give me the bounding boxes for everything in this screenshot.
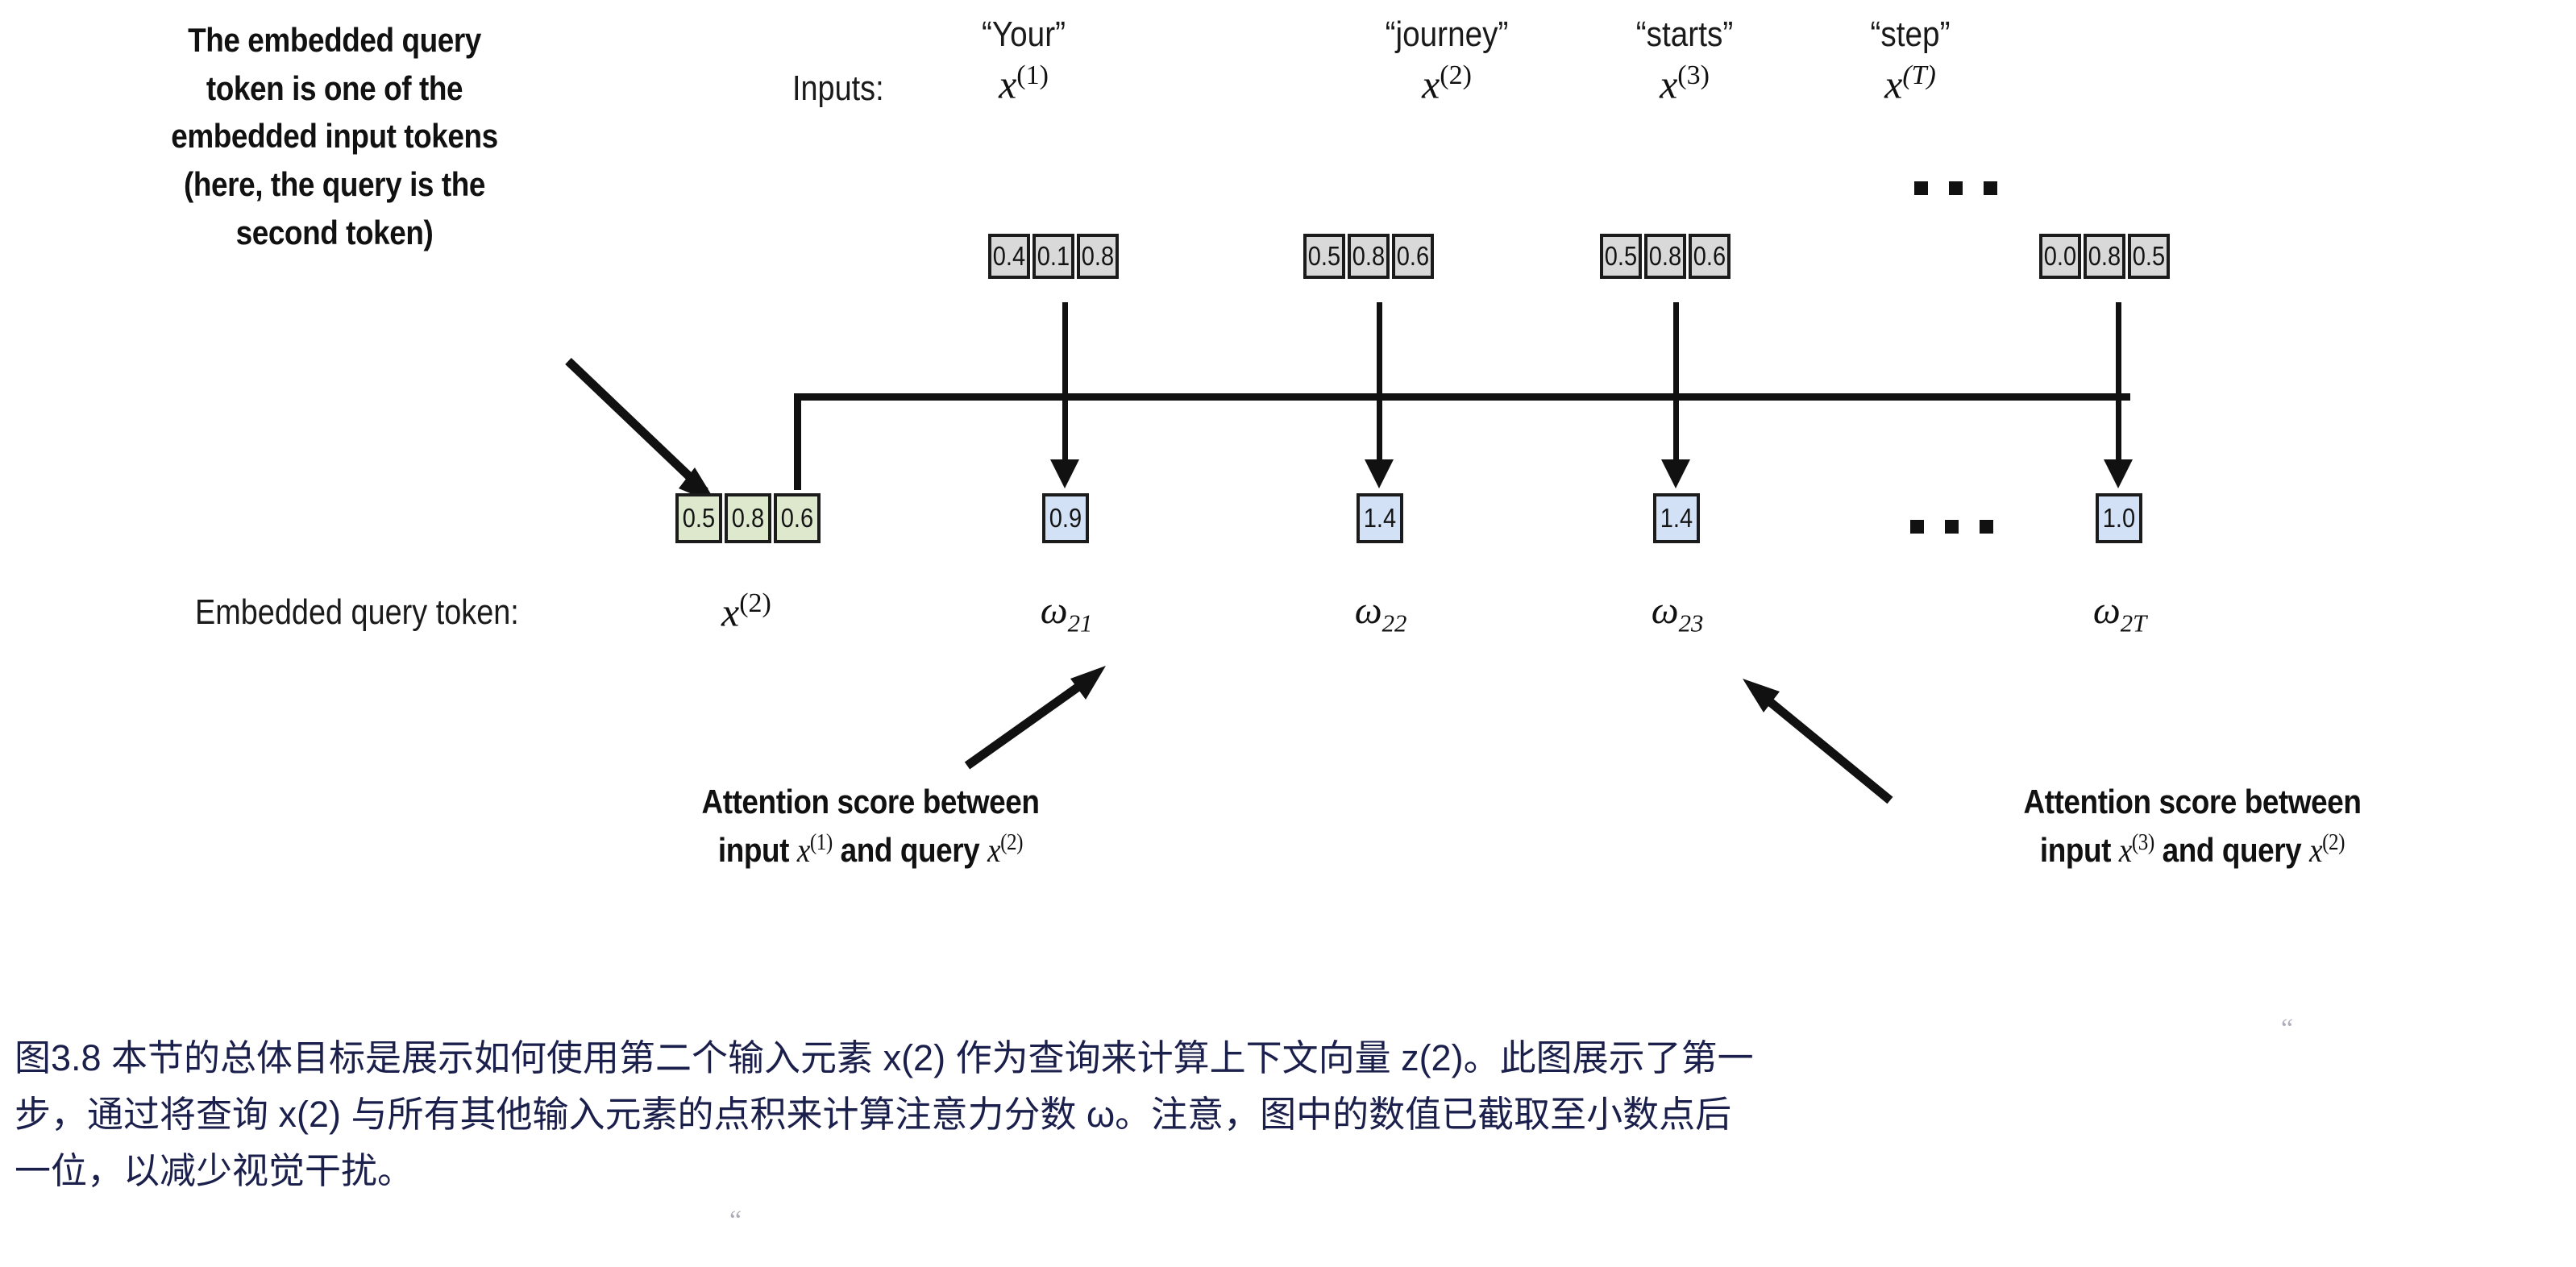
annotation-attention-score-x1: Attention score between input x(1) and q… bbox=[622, 778, 1119, 875]
flow-arrow-shaft-3 bbox=[1673, 302, 1679, 467]
flow-arrow-head-1 bbox=[1050, 459, 1079, 488]
figure-caption: 图3.8 本节的总体目标是展示如何使用第二个输入元素 x(2) 作为查询来计算上… bbox=[15, 1030, 2561, 1199]
score-label-2: ω22 bbox=[1316, 588, 1445, 638]
inputs-label: Inputs: bbox=[792, 69, 884, 109]
input-cell: 0.5 bbox=[1303, 234, 1345, 279]
omega-base-2: ω bbox=[1355, 589, 1382, 632]
omega-base-3: ω bbox=[1652, 589, 1679, 632]
annotation-line: embedded input tokens bbox=[107, 112, 561, 160]
flow-arrow-shaft-4 bbox=[2116, 302, 2121, 467]
input-symbol-base-4: x bbox=[1884, 62, 1902, 107]
input-vector-3: 0.5 0.8 0.6 bbox=[1600, 234, 1733, 279]
annotation-line: (here, the query is the bbox=[107, 160, 561, 209]
caption-line-1: 图3.8 本节的总体目标是展示如何使用第二个输入元素 x(2) 作为查询来计算上… bbox=[15, 1030, 2561, 1086]
annotation-text: and query bbox=[2154, 831, 2309, 869]
x-symbol: x(3) bbox=[2119, 833, 2154, 870]
score-cell: 1.4 bbox=[1653, 493, 1700, 543]
input-symbol-sup-2: (2) bbox=[1440, 60, 1472, 90]
x-symbol: x(2) bbox=[2309, 833, 2345, 870]
flow-arrow-shaft-1 bbox=[1062, 302, 1068, 467]
score-box-1: 0.9 bbox=[1042, 493, 1091, 543]
caption-line-3: 一位，以减少视觉干扰。 bbox=[15, 1143, 2561, 1199]
score-box-2: 1.4 bbox=[1357, 493, 1406, 543]
token-word-1: “Your” bbox=[938, 15, 1108, 55]
omega-sub-1: 21 bbox=[1068, 610, 1093, 638]
input-cell: 0.5 bbox=[1600, 234, 1642, 279]
annotation-line: token is one of the bbox=[107, 64, 561, 113]
annotation-line: second token) bbox=[107, 209, 561, 257]
annotation-line: Attention score between bbox=[1923, 778, 2462, 826]
annotation-text: input bbox=[2040, 831, 2119, 869]
inputs-ellipsis-icon bbox=[1914, 181, 1997, 195]
input-symbol-base-2: x bbox=[1422, 62, 1440, 107]
callout-arrow-bottom-left-icon bbox=[951, 653, 1145, 782]
input-symbol-base-3: x bbox=[1660, 62, 1677, 107]
omega-base-1: ω bbox=[1041, 589, 1068, 632]
input-cell: 0.8 bbox=[1644, 234, 1686, 279]
input-cell: 0.8 bbox=[2084, 234, 2125, 279]
input-symbol-sup-1: (1) bbox=[1016, 60, 1049, 90]
score-cell: 1.4 bbox=[1357, 493, 1403, 543]
score-box-3: 1.4 bbox=[1653, 493, 1702, 543]
input-cell: 0.0 bbox=[2039, 234, 2081, 279]
query-symbol: x(2) bbox=[721, 588, 883, 636]
embedded-query-token-label: Embedded query token: bbox=[195, 592, 519, 633]
input-symbol-sup-3: (3) bbox=[1677, 60, 1710, 90]
bus-left-stub bbox=[794, 393, 801, 490]
query-cell: 0.8 bbox=[725, 493, 771, 543]
x-symbol: x(2) bbox=[987, 833, 1023, 870]
callout-arrow-bottom-right-icon bbox=[1652, 667, 1918, 820]
input-vector-4: 0.0 0.8 0.5 bbox=[2039, 234, 2172, 279]
stray-quote-mark-upper: “ bbox=[2281, 1014, 2293, 1045]
score-cell: 0.9 bbox=[1042, 493, 1089, 543]
input-cell: 0.6 bbox=[1689, 234, 1730, 279]
score-label-1: ω21 bbox=[1002, 588, 1131, 638]
query-symbol-base: x bbox=[721, 590, 739, 635]
input-symbol-1: x(1) bbox=[927, 60, 1120, 108]
omega-sub-2: 22 bbox=[1382, 610, 1407, 638]
score-cell: 1.0 bbox=[2096, 493, 2142, 543]
caption-line-2: 步，通过将查询 x(2) 与所有其他输入元素的点积来计算注意力分数 ω。注意，图… bbox=[15, 1086, 2561, 1143]
x-symbol: x(1) bbox=[797, 833, 833, 870]
input-cell: 0.8 bbox=[1348, 234, 1390, 279]
score-label-4: ω2T bbox=[2055, 588, 2184, 638]
flow-arrow-head-3 bbox=[1661, 459, 1690, 488]
figure-canvas: The embedded query token is one of the e… bbox=[0, 0, 2576, 1267]
input-cell: 0.8 bbox=[1077, 234, 1119, 279]
input-symbol-4: x(T) bbox=[1809, 60, 2011, 108]
input-vector-1: 0.4 0.1 0.8 bbox=[988, 234, 1121, 279]
query-cell: 0.6 bbox=[774, 493, 821, 543]
annotation-attention-score-x3: Attention score between input x(3) and q… bbox=[1923, 778, 2462, 875]
query-vector: 0.5 0.8 0.6 bbox=[675, 493, 823, 543]
flow-arrow-head-4 bbox=[2104, 459, 2133, 488]
query-symbol-sup: (2) bbox=[739, 588, 771, 618]
annotation-text: input bbox=[718, 831, 797, 869]
annotation-line: input x(3) and query x(2) bbox=[1923, 826, 2462, 876]
input-vector-2: 0.5 0.8 0.6 bbox=[1303, 234, 1436, 279]
input-symbol-base-1: x bbox=[999, 62, 1016, 107]
input-symbol-2: x(2) bbox=[1346, 60, 1548, 108]
bus-horizontal-line bbox=[794, 393, 2130, 401]
input-cell: 0.6 bbox=[1392, 234, 1434, 279]
token-word-4: “step” bbox=[1822, 15, 1999, 55]
annotation-line: Attention score between bbox=[622, 778, 1119, 826]
query-cell: 0.5 bbox=[675, 493, 722, 543]
token-word-3: “starts” bbox=[1596, 15, 1773, 55]
stray-quote-mark: “ bbox=[729, 1206, 742, 1236]
omega-base-4: ω bbox=[2093, 589, 2121, 632]
input-cell: 0.4 bbox=[988, 234, 1030, 279]
score-box-4: 1.0 bbox=[2096, 493, 2145, 543]
input-symbol-3: x(3) bbox=[1584, 60, 1785, 108]
annotation-embedded-query-token: The embedded query token is one of the e… bbox=[107, 16, 561, 256]
token-word-2: “journey” bbox=[1358, 15, 1535, 55]
scores-ellipsis-icon bbox=[1910, 520, 1993, 534]
annotation-line: input x(1) and query x(2) bbox=[622, 826, 1119, 876]
annotation-text: and query bbox=[833, 831, 987, 869]
input-cell: 0.5 bbox=[2128, 234, 2170, 279]
annotation-line: The embedded query bbox=[107, 16, 561, 64]
omega-sub-3: 23 bbox=[1679, 610, 1704, 638]
flow-arrow-shaft-2 bbox=[1377, 302, 1382, 467]
flow-arrow-head-2 bbox=[1365, 459, 1394, 488]
input-symbol-sup-4: (T) bbox=[1902, 60, 1936, 90]
input-cell: 0.1 bbox=[1032, 234, 1074, 279]
omega-sub-4: 2T bbox=[2121, 610, 2146, 638]
score-label-3: ω23 bbox=[1613, 588, 1742, 638]
